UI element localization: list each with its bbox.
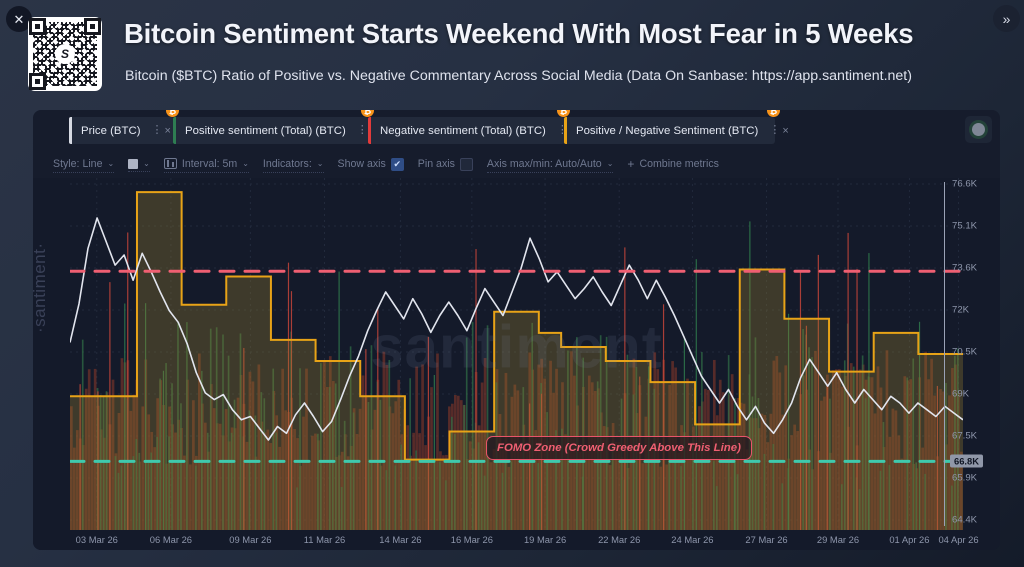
bitcoin-badge-icon: ₿ — [557, 110, 570, 117]
y-axis-current-badge: 66.8K — [950, 455, 983, 468]
x-axis-tick: 19 Mar 26 — [524, 534, 566, 545]
chevron-down-icon: ⌄ — [607, 159, 614, 168]
qr-logo: S — [55, 44, 75, 64]
record-button[interactable] — [965, 116, 992, 143]
pin-axis-checkbox[interactable]: Pin axis — [418, 158, 473, 173]
x-axis-tick: 01 Apr 26 — [889, 534, 929, 545]
indicators-label: Indicators: — [263, 158, 312, 170]
chart-panel: Price (BTC) ⋮ × ₿ Positive sentiment (To… — [33, 110, 1000, 550]
y-axis[interactable]: 76.6K75.1K73.6K72K70.5K69K67.5K65.9K64.4… — [940, 178, 1000, 550]
x-axis-tick: 09 Mar 26 — [229, 534, 271, 545]
checkbox-empty-icon — [460, 158, 473, 171]
combine-metrics-label: Combine metrics — [639, 158, 718, 170]
candlestick-icon — [164, 158, 177, 169]
qr-eye-top-left — [29, 18, 46, 35]
interval-label: Interval: 5m — [182, 158, 237, 170]
tab-label: Positive / Negative Sentiment (BTC) — [567, 125, 767, 137]
santiment-watermark-side: ·santiment· — [33, 242, 50, 333]
y-axis-tick: 69K — [952, 389, 969, 400]
metric-tabs: Price (BTC) ⋮ × ₿ Positive sentiment (To… — [33, 110, 1000, 150]
y-axis-line — [944, 182, 945, 526]
show-axis-label: Show axis — [338, 158, 386, 170]
color-picker[interactable]: ⌄ — [128, 159, 150, 172]
qr-eye-top-right — [84, 18, 101, 35]
axis-minmax-dropdown[interactable]: Axis max/min: Auto/Auto ⌄ — [487, 158, 614, 173]
x-axis-tick: 16 Mar 26 — [451, 534, 493, 545]
x-axis-tick: 24 Mar 26 — [671, 534, 713, 545]
plus-icon: + — [627, 157, 634, 171]
show-axis-checkbox[interactable]: Show axis ✔ — [338, 158, 404, 173]
interval-dropdown[interactable]: Interval: 5m ⌄ — [164, 158, 249, 173]
qr-eye-bottom-left — [29, 73, 46, 90]
page-title: Bitcoin Sentiment Starts Weekend With Mo… — [124, 18, 1004, 50]
bitcoin-badge-icon: ₿ — [166, 110, 179, 117]
y-axis-tick: 76.6K — [952, 179, 977, 190]
chart-svg — [70, 178, 963, 530]
x-axis[interactable]: 03 Mar 2606 Mar 2609 Mar 2611 Mar 2614 M… — [70, 530, 963, 550]
chevron-down-icon: ⌄ — [242, 159, 249, 168]
checkbox-checked-icon: ✔ — [391, 158, 404, 171]
y-axis-tick: 65.9K — [952, 473, 977, 484]
qr-code[interactable]: S — [28, 17, 102, 91]
chevron-down-icon: ⌄ — [317, 159, 324, 168]
x-axis-tick: 22 Mar 26 — [598, 534, 640, 545]
tab-positive-sentiment[interactable]: Positive sentiment (Total) (BTC) ⋮ × — [173, 117, 369, 144]
chevron-down-icon: ⌄ — [143, 159, 150, 168]
x-axis-tick: 14 Mar 26 — [379, 534, 421, 545]
tab-menu-icon[interactable]: ⋮ — [767, 126, 777, 135]
header: ✕ » S Bitcoin Sentiment Starts Weekend W… — [0, 0, 1024, 108]
tab-menu-icon[interactable]: ⋮ — [355, 126, 365, 135]
fomo-zone-annotation: FOMO Zone (Crowd Greedy Above This Line) — [486, 436, 752, 460]
bitcoin-badge-icon: ₿ — [361, 110, 374, 117]
indicators-dropdown[interactable]: Indicators: ⌄ — [263, 158, 324, 173]
tab-price-btc[interactable]: Price (BTC) ⋮ × — [69, 117, 174, 144]
y-axis-tick: 67.5K — [952, 431, 977, 442]
tab-positive-negative-sentiment[interactable]: Positive / Negative Sentiment (BTC) ⋮ × — [564, 117, 775, 144]
style-dropdown[interactable]: Style: Line ⌄ — [53, 158, 114, 173]
tab-label: Positive sentiment (Total) (BTC) — [176, 125, 355, 137]
axis-minmax-label: Axis max/min: Auto/Auto — [487, 158, 602, 170]
x-axis-tick: 04 Apr 26 — [938, 534, 978, 545]
tab-close-icon[interactable]: × — [777, 125, 797, 137]
tab-negative-sentiment[interactable]: Negative sentiment (Total) (BTC) ⋮ × — [368, 117, 565, 144]
x-axis-tick: 29 Mar 26 — [817, 534, 859, 545]
x-axis-tick: 03 Mar 26 — [76, 534, 118, 545]
style-label: Style: Line — [53, 158, 102, 170]
y-axis-tick: 70.5K — [952, 347, 977, 358]
bitcoin-badge-icon: ₿ — [767, 110, 780, 117]
chevron-down-icon: ⌄ — [107, 159, 114, 168]
y-axis-tick: 75.1K — [952, 221, 977, 232]
color-swatch-icon — [128, 159, 138, 169]
page-subtitle: Bitcoin ($BTC) Ratio of Positive vs. Neg… — [125, 68, 1015, 84]
screenshot-root: ✕ » S Bitcoin Sentiment Starts Weekend W… — [0, 0, 1024, 567]
y-axis-tick: 72K — [952, 305, 969, 316]
x-axis-tick: 27 Mar 26 — [745, 534, 787, 545]
tab-label: Negative sentiment (Total) (BTC) — [371, 125, 555, 137]
combine-metrics-button[interactable]: + Combine metrics — [627, 157, 719, 173]
y-axis-tick: 64.4K — [952, 515, 977, 526]
chart-toolbar: Style: Line ⌄ ⌄ Interval: 5m ⌄ Indicator… — [53, 155, 733, 175]
plot-canvas[interactable]: santiment — [70, 178, 963, 530]
y-axis-tick: 73.6K — [952, 263, 977, 274]
plot-region: ·santiment· santiment 76.6K75.1K73.6K72K… — [33, 178, 1000, 550]
record-dot-icon — [972, 123, 985, 136]
tab-label: Price (BTC) — [72, 125, 149, 137]
x-axis-tick: 06 Mar 26 — [150, 534, 192, 545]
tab-menu-icon[interactable]: ⋮ — [149, 126, 159, 135]
pin-axis-label: Pin axis — [418, 158, 455, 170]
x-axis-tick: 11 Mar 26 — [304, 534, 346, 545]
